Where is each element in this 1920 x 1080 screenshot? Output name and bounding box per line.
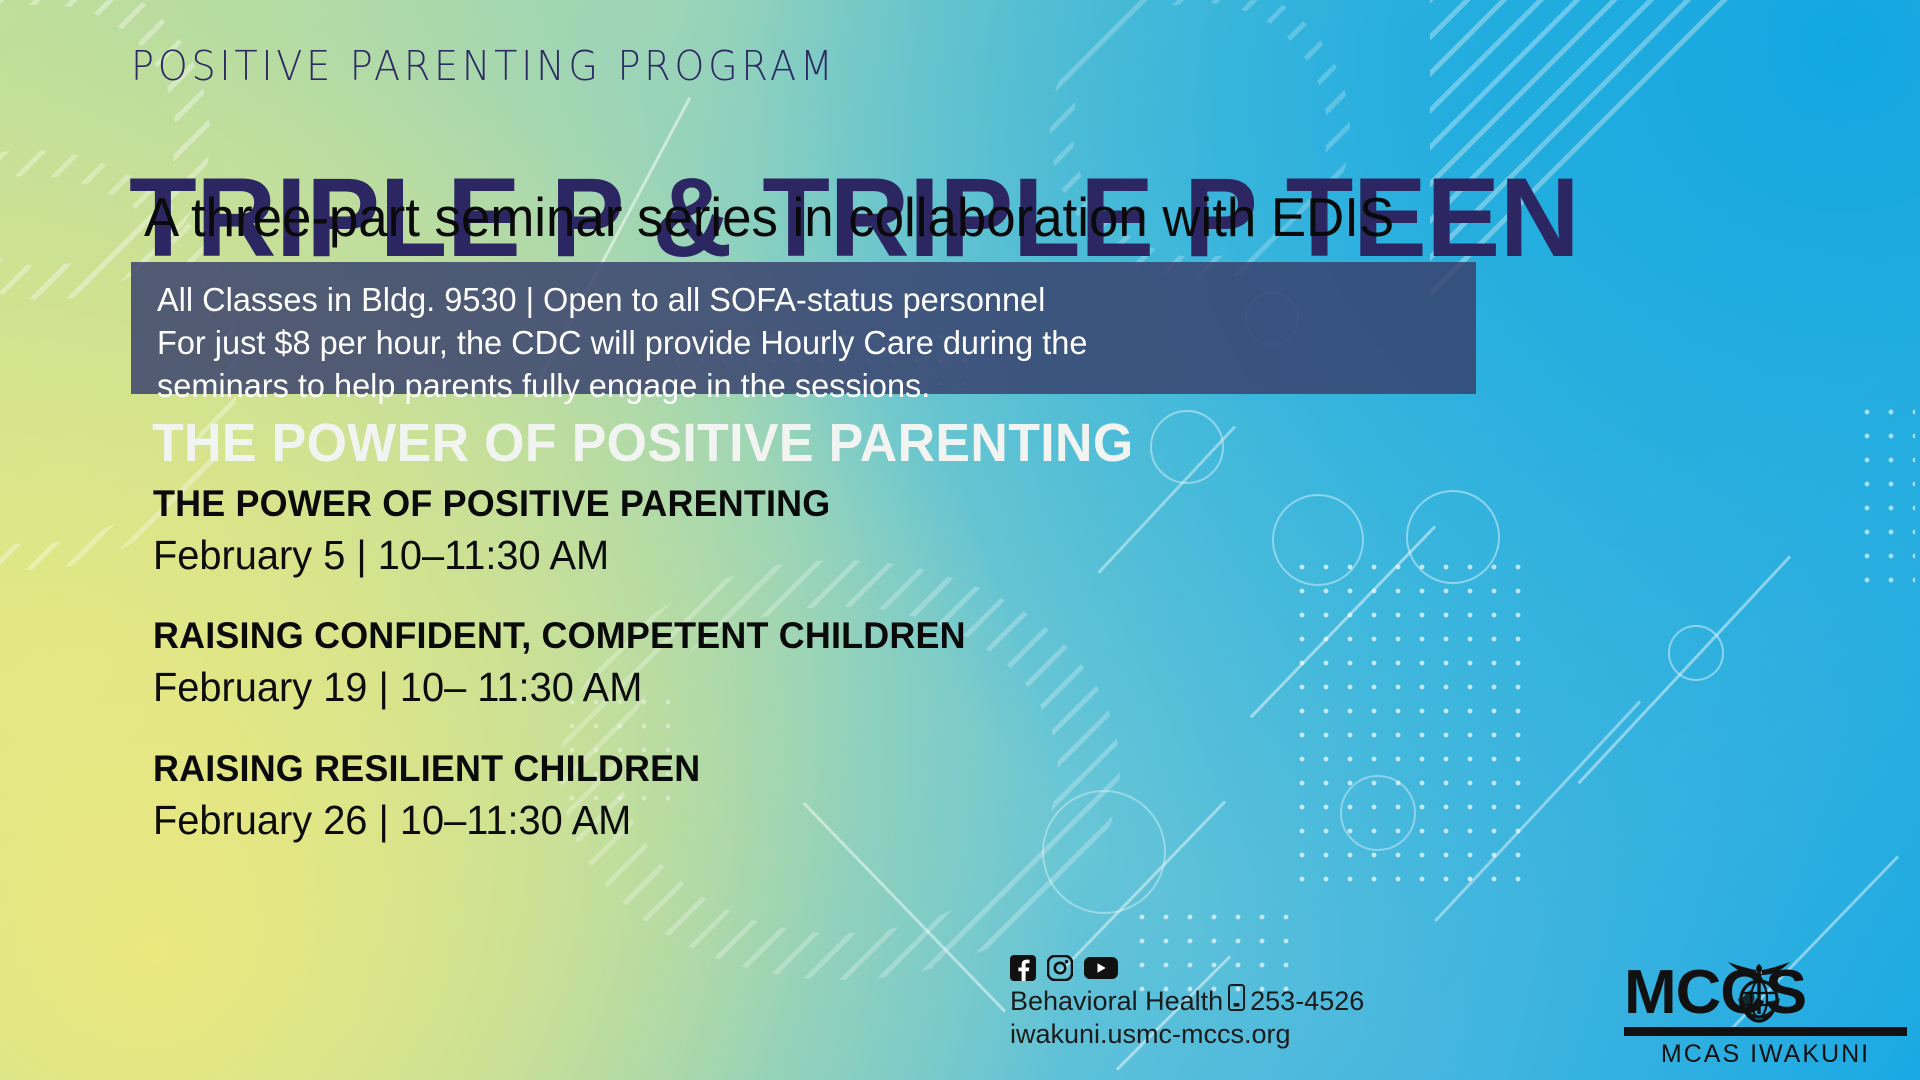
mccs-logo-subtitle: MCAS IWAKUNI	[1624, 1040, 1907, 1069]
dot-grid-5	[1855, 400, 1915, 600]
eagle-globe-anchor-icon	[1720, 952, 1798, 1030]
info-line-3: seminars to help parents fully engage in…	[157, 365, 1456, 408]
contact-phone-row: Behavioral Health 253-4526	[1010, 984, 1364, 1019]
website-url[interactable]: iwakuni.usmc-mccs.org	[1010, 1019, 1364, 1051]
circle-ring-7	[1042, 790, 1166, 914]
circle-ring-2	[1406, 490, 1500, 584]
poster-kicker: POSITIVE PARENTING PROGRAM	[131, 42, 836, 90]
circle-ring-3	[1272, 494, 1364, 586]
session-item: THE POWER OF POSITIVE PARENTING February…	[153, 483, 851, 579]
slash-line-4	[1250, 525, 1436, 718]
session-item: RAISING CONFIDENT, COMPETENT CHILDREN Fe…	[153, 615, 991, 711]
session-date: February 5 | 10–11:30 AM	[153, 532, 830, 579]
session-item: RAISING RESILIENT CHILDREN February 26 |…	[153, 748, 717, 844]
mccs-logo: MCCS	[1624, 962, 1907, 1069]
slash-line-3	[1434, 700, 1641, 921]
social-links	[1010, 955, 1364, 981]
session-title: RAISING RESILIENT CHILDREN	[153, 748, 700, 790]
session-title: RAISING CONFIDENT, COMPETENT CHILDREN	[153, 615, 966, 657]
info-box: All Classes in Bldg. 9530 | Open to all …	[131, 262, 1476, 394]
poster-subtitle: A three-part seminar series in collabora…	[144, 185, 1394, 249]
facebook-icon[interactable]	[1010, 955, 1036, 981]
slash-line-8	[802, 802, 1006, 1013]
circle-ring-6	[1340, 775, 1416, 851]
session-title: THE POWER OF POSITIVE PARENTING	[153, 483, 830, 525]
dot-grid-1	[1290, 555, 1530, 885]
session-date: February 19 | 10– 11:30 AM	[153, 664, 966, 711]
info-line-1: All Classes in Bldg. 9530 | Open to all …	[157, 279, 1456, 322]
mccs-logo-wordmark: MCCS	[1624, 962, 1907, 1024]
instagram-icon[interactable]	[1047, 955, 1073, 981]
info-line-2: For just $8 per hour, the CDC will provi…	[157, 322, 1456, 365]
footer-contact: Behavioral Health 253-4526 iwakuni.usmc-…	[1010, 955, 1364, 1051]
mobile-phone-icon	[1228, 984, 1245, 1019]
slash-line-6	[1057, 800, 1226, 975]
youtube-icon[interactable]	[1084, 955, 1118, 981]
slash-line-2	[1577, 555, 1791, 784]
session-date: February 26 | 10–11:30 AM	[153, 797, 700, 844]
phone-number[interactable]: 253-4526	[1250, 986, 1364, 1018]
poster-canvas: POSITIVE PARENTING PROGRAM TRIPLE P & TR…	[0, 0, 1920, 1080]
contact-block: Behavioral Health 253-4526 iwakuni.usmc-…	[1010, 984, 1364, 1051]
department-label: Behavioral Health	[1010, 986, 1223, 1018]
series-banner-heading: THE POWER OF POSITIVE PARENTING	[152, 412, 1134, 474]
